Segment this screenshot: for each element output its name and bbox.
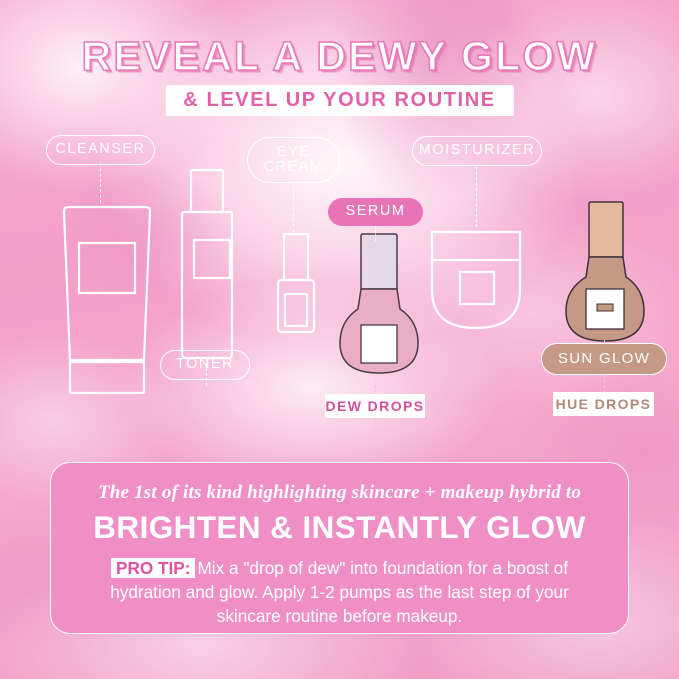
page-title: REVEAL A DEWY GLOW xyxy=(0,36,679,77)
moisturizer-illustration xyxy=(428,228,524,334)
toner-label: TONER xyxy=(176,357,234,372)
eye-cream-illustration xyxy=(272,232,320,336)
cleanser-illustration xyxy=(52,205,162,395)
infographic-canvas: REVEAL A DEWY GLOW & LEVEL UP YOUR ROUTI… xyxy=(0,0,679,679)
toner-illustration xyxy=(172,168,242,368)
panel-body: PRO TIP:Mix a "drop of dew" into foundat… xyxy=(80,556,600,629)
moisturizer-label: MOISTURIZER xyxy=(419,143,535,158)
sidebar-item-sun-glow[interactable]: SUN GLOW xyxy=(541,343,667,375)
sidebar-item-eye-cream[interactable]: EYE CREAM xyxy=(247,137,340,183)
product-flag-dew-drops[interactable]: DEW DROPS xyxy=(325,394,425,418)
panel-tagline: The 1st of its kind highlighting skincar… xyxy=(98,483,581,502)
sidebar-item-toner[interactable]: TONER xyxy=(160,350,250,380)
serum-label: SERUM xyxy=(346,204,406,219)
page-subtitle: & LEVEL UP YOUR ROUTINE xyxy=(183,90,495,110)
sidebar-item-serum[interactable]: SERUM xyxy=(328,198,423,226)
sun-glow-label: SUN GLOW xyxy=(558,351,650,367)
sun-glow-bottle-illustration xyxy=(562,201,648,349)
sidebar-item-moisturizer[interactable]: MOISTURIZER xyxy=(412,136,542,166)
connector-serum xyxy=(375,225,376,241)
header-block: REVEAL A DEWY GLOW xyxy=(0,36,679,77)
dew-drops-label: DEW DROPS xyxy=(326,398,425,414)
connector-dew-drops-panel xyxy=(375,417,376,459)
eye-cream-label-line1: EYE xyxy=(277,145,311,160)
cleanser-label: CLEANSER xyxy=(55,142,145,157)
pro-tip-badge: PRO TIP: xyxy=(111,558,195,578)
connector-eye-cream xyxy=(293,182,294,232)
info-panel: The 1st of its kind highlighting skincar… xyxy=(50,462,629,634)
hue-drops-label: HUE DROPS xyxy=(556,396,652,412)
panel-headline: BRIGHTEN & INSTANTLY GLOW xyxy=(93,512,585,544)
sidebar-item-cleanser[interactable]: CLEANSER xyxy=(46,135,155,165)
connector-cleanser xyxy=(100,163,101,203)
product-flag-hue-drops[interactable]: HUE DROPS xyxy=(553,392,654,416)
connector-moisturizer xyxy=(476,167,477,227)
dew-drops-bottle-illustration xyxy=(336,233,422,381)
eye-cream-label-line2: CREAM xyxy=(264,160,324,175)
subtitle-banner: & LEVEL UP YOUR ROUTINE xyxy=(165,85,513,116)
connector-hue-drops xyxy=(604,375,605,393)
